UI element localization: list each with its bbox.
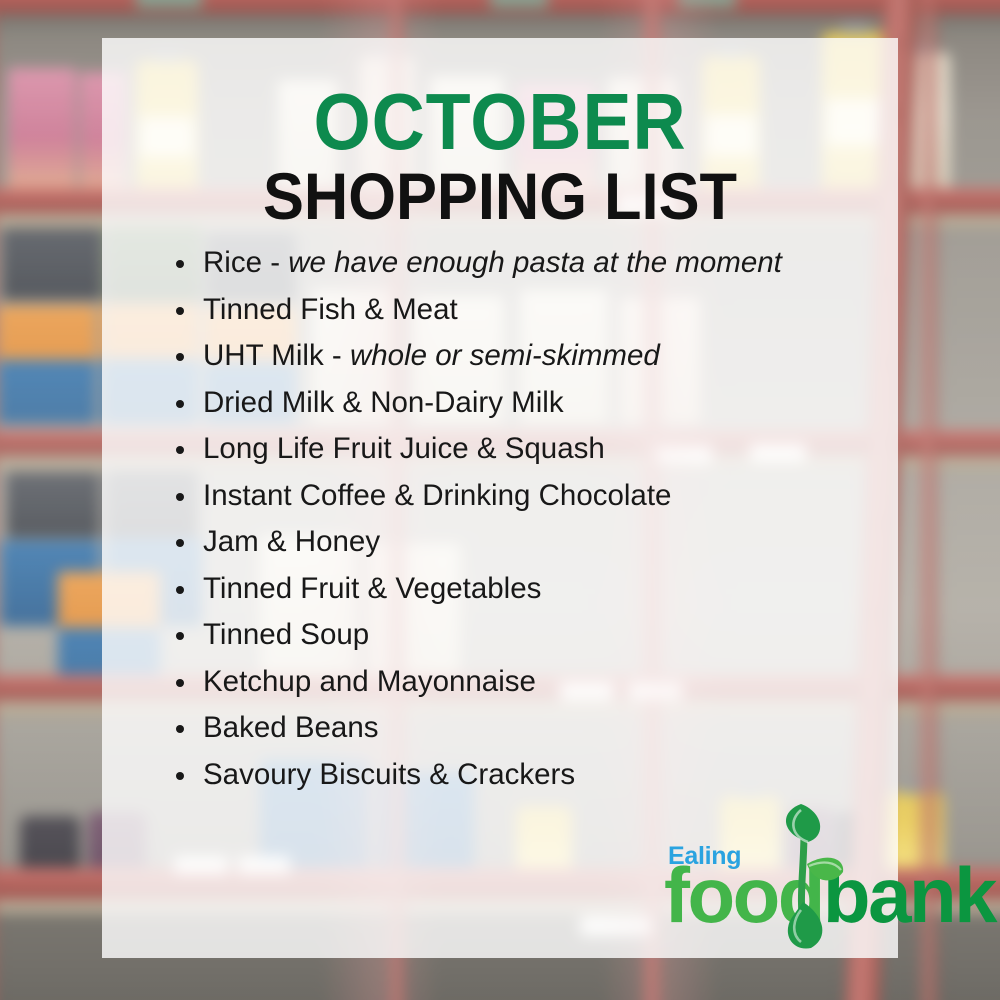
list-item: UHT Milk - whole or semi-skimmed bbox=[172, 336, 872, 383]
bullet-icon bbox=[176, 307, 184, 315]
list-item-label: Baked Beans bbox=[203, 711, 379, 744]
page-title-month: OCTOBER bbox=[134, 82, 866, 162]
list-item-label: UHT Milk - bbox=[203, 339, 350, 372]
list-item: Savoury Biscuits & Crackers bbox=[172, 755, 872, 802]
list-item: Tinned Soup bbox=[172, 615, 872, 662]
shopping-list-poster: OCTOBER SHOPPING LIST Rice - we have eno… bbox=[0, 0, 1000, 1000]
list-item-label: Tinned Fish & Meat bbox=[203, 293, 458, 326]
list-item-note: we have enough pasta at the moment bbox=[288, 246, 782, 279]
list-item-label: Long Life Fruit Juice & Squash bbox=[203, 432, 605, 465]
list-item: Dried Milk & Non-Dairy Milk bbox=[172, 383, 872, 430]
bullet-icon bbox=[176, 586, 184, 594]
list-item: Ketchup and Mayonnaise bbox=[172, 662, 872, 709]
bullet-icon bbox=[176, 679, 184, 687]
list-item: Rice - we have enough pasta at the momen… bbox=[172, 243, 872, 290]
list-item-label: Dried Milk & Non-Dairy Milk bbox=[203, 386, 564, 419]
list-item-note: whole or semi-skimmed bbox=[350, 339, 660, 372]
list-item: Instant Coffee & Drinking Chocolate bbox=[172, 476, 872, 523]
bullet-icon bbox=[176, 353, 184, 361]
ealing-foodbank-logo: Ealing foodbank bbox=[572, 798, 902, 958]
leaf-sprout-icon bbox=[747, 798, 867, 958]
list-item: Jam & Honey bbox=[172, 522, 872, 569]
list-item-label: Rice - bbox=[203, 246, 288, 279]
bullet-icon bbox=[176, 260, 184, 268]
bullet-icon bbox=[176, 539, 184, 547]
bullet-icon bbox=[176, 400, 184, 408]
bullet-icon bbox=[176, 493, 184, 501]
list-item: Baked Beans bbox=[172, 708, 872, 755]
bullet-icon bbox=[176, 632, 184, 640]
bullet-icon bbox=[176, 772, 184, 780]
list-item-label: Jam & Honey bbox=[203, 525, 380, 558]
list-item-label: Ketchup and Mayonnaise bbox=[203, 665, 536, 698]
list-item: Tinned Fish & Meat bbox=[172, 290, 872, 337]
list-item-label: Instant Coffee & Drinking Chocolate bbox=[203, 479, 671, 512]
page-title-subtitle: SHOPPING LIST bbox=[130, 163, 870, 229]
list-item: Long Life Fruit Juice & Squash bbox=[172, 429, 872, 476]
shopping-list: Rice - we have enough pasta at the momen… bbox=[172, 243, 872, 801]
list-item-label: Tinned Soup bbox=[203, 618, 369, 651]
poster-content: OCTOBER SHOPPING LIST Rice - we have eno… bbox=[102, 38, 898, 958]
list-item-label: Tinned Fruit & Vegetables bbox=[203, 572, 541, 605]
bullet-icon bbox=[176, 446, 184, 454]
bullet-icon bbox=[176, 725, 184, 733]
list-item-label: Savoury Biscuits & Crackers bbox=[203, 758, 575, 791]
list-item: Tinned Fruit & Vegetables bbox=[172, 569, 872, 616]
